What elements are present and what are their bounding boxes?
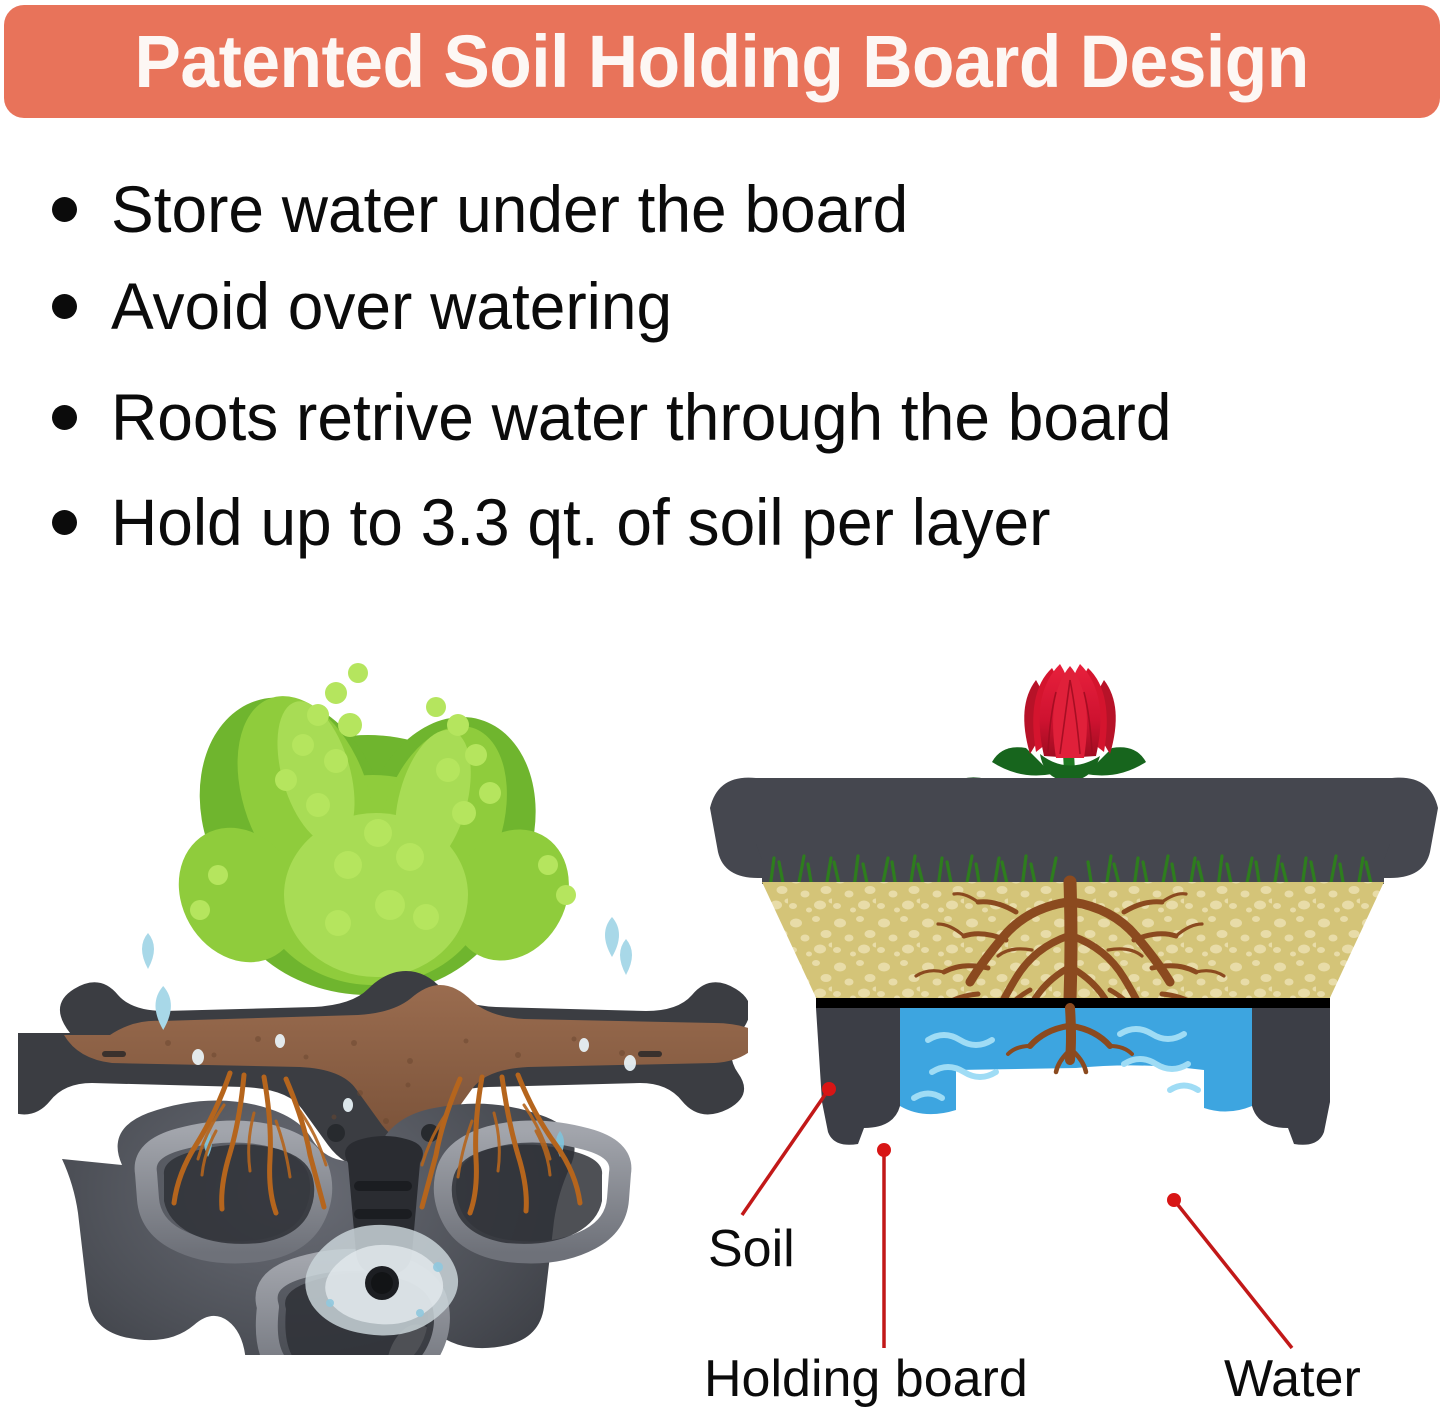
feature-label: Roots retrive water through the board (111, 383, 1171, 451)
feature-label: Avoid over watering (111, 272, 672, 340)
bullet-dot-icon (52, 294, 77, 319)
feature-item: Roots retrive water through the board (52, 383, 1204, 451)
bullet-dot-icon (52, 510, 77, 535)
callout-label-water: Water (1224, 1352, 1361, 1406)
feature-item: Hold up to 3.3 qt. of soil per layer (52, 488, 1080, 556)
feature-label: Hold up to 3.3 qt. of soil per layer (111, 488, 1050, 556)
feature-label: Store water under the board (111, 175, 908, 243)
rose-flower (1024, 664, 1116, 758)
bullet-dot-icon (52, 405, 77, 430)
plant-foliage (155, 663, 592, 995)
page-title: Patented Soil Holding Board Design (135, 25, 1309, 99)
header-banner: Patented Soil Holding Board Design (4, 5, 1440, 118)
feature-item: Store water under the board (52, 175, 933, 243)
stackable-planter-photo (18, 565, 748, 1355)
callout-label-holding-board: Holding board (704, 1352, 1028, 1406)
bullet-dot-icon (52, 197, 77, 222)
water-reservoir (816, 1008, 1330, 1145)
feature-item: Avoid over watering (52, 272, 689, 340)
callout-label-soil: Soil (708, 1222, 795, 1276)
planter-body (62, 1101, 620, 1356)
pot-cross-section-diagram (700, 650, 1445, 1270)
